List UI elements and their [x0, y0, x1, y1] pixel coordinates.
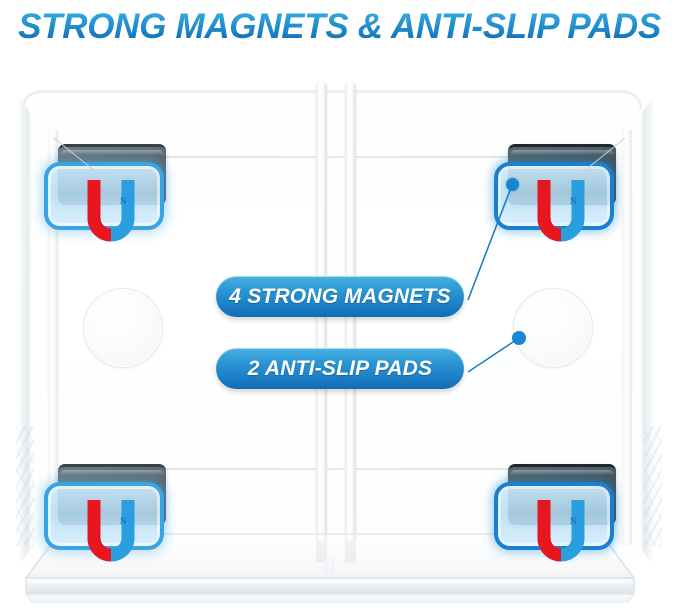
callout-badge-magnets[interactable]: 4 STRONG MAGNETS	[216, 276, 464, 317]
anti-slip-pad-right	[513, 288, 593, 368]
magnet-badge-icon: N	[494, 482, 614, 550]
anti-slip-pad-left	[83, 288, 163, 368]
magnet-badge-icon: N	[44, 482, 164, 550]
horseshoe-magnet-icon	[84, 498, 138, 564]
callout-label-magnets: 4 STRONG MAGNETS	[229, 285, 450, 309]
holder-top-rim	[22, 90, 642, 109]
magnet-pole-label: N	[570, 196, 577, 206]
magnet-bottom-right: N	[490, 460, 620, 546]
magnet-pole-label: N	[570, 516, 577, 526]
callout-badge-pads[interactable]: 2 ANTI-SLIP PADS	[216, 348, 464, 389]
acrylic-texture-right	[644, 426, 662, 546]
magnet-top-right: N	[490, 140, 620, 226]
magnet-badge-icon: N	[494, 162, 614, 230]
magnet-pole-label: N	[120, 196, 127, 206]
holder-divider-1	[316, 84, 327, 564]
magnet-badge-icon: N	[44, 162, 164, 230]
magnet-bottom-left: N	[40, 460, 170, 546]
acrylic-holder-illustration: N N	[0, 60, 679, 615]
product-feature-image: STRONG MAGNETS & ANTI-SLIP PADS	[0, 0, 679, 615]
page-title: STRONG MAGNETS & ANTI-SLIP PADS	[18, 7, 661, 47]
horseshoe-magnet-icon	[534, 178, 588, 244]
leader-anchor-dot-magnet	[506, 178, 519, 191]
horseshoe-magnet-icon	[534, 498, 588, 564]
magnet-pole-label: N	[120, 516, 127, 526]
magnet-top-left: N	[40, 140, 170, 226]
holder-post-right	[622, 130, 632, 545]
callout-label-pads: 2 ANTI-SLIP PADS	[248, 357, 432, 381]
holder-divider-2	[345, 84, 356, 564]
headline-banner: STRONG MAGNETS & ANTI-SLIP PADS	[0, 2, 679, 52]
horseshoe-magnet-icon	[84, 178, 138, 244]
acrylic-texture-left	[16, 426, 34, 546]
